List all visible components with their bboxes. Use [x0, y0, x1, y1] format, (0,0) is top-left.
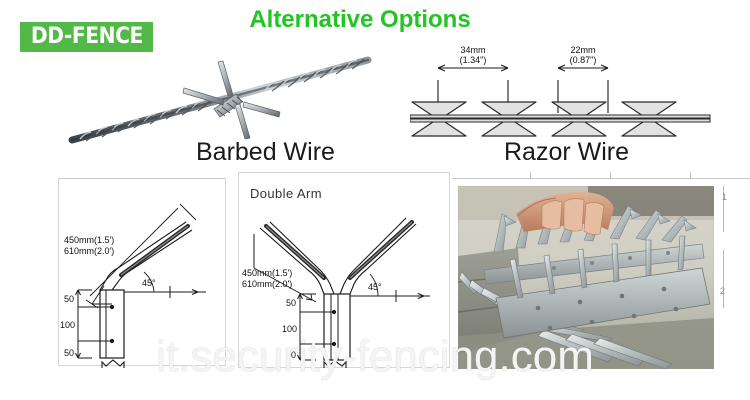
edge-rule [723, 250, 724, 308]
razor-dim-34mm-metric: 34mm [460, 45, 485, 55]
single-arm-length-alt: 610mm(2.0') [64, 246, 114, 256]
double-arm-drawing: 450mm(1.5') 610mm(2.0') 45° 50 100 50 [238, 172, 450, 373]
razor-dim-22mm-imperial: (0.87") [570, 55, 597, 65]
double-arm-dim-top: 50 [286, 298, 296, 308]
barbed-wire-barb [183, 61, 280, 139]
razor-wire-illustration: 34mm (1.34") 22mm (0.87") [410, 38, 740, 143]
rule-tick [690, 172, 691, 178]
barbed-wire-caption: Barbed Wire [196, 138, 335, 167]
page-title: Alternative Options [240, 6, 480, 34]
razor-dim-22mm-metric: 22mm [570, 45, 595, 55]
single-arm-length-metric: 450mm(1.5') [64, 235, 114, 245]
double-arm-length-alt: 610mm(2.0') [242, 279, 292, 289]
photo-top-rule [452, 178, 750, 179]
wall-spikes-photo [458, 186, 714, 369]
double-arm-dim-bottom: 50 [286, 350, 296, 360]
razor-dim-34mm-imperial: (1.34") [460, 55, 487, 65]
edge-mark-2: 2 [720, 286, 725, 296]
single-arm-angle: 45° [142, 278, 156, 288]
razor-wire-core [410, 115, 710, 122]
edge-mark-1: 1 [722, 192, 727, 202]
slide-canvas: DD-FENCE Alternative Options [0, 0, 750, 400]
rule-tick [610, 172, 611, 178]
single-arm-drawing: 450mm(1.5') 610mm(2.0') 45° 50 100 50 [58, 178, 226, 373]
brand-logo-text: DD-FENCE [31, 26, 143, 48]
rule-tick [530, 172, 531, 178]
single-arm-dim-bottom: 50 [64, 348, 74, 358]
double-arm-dim-mid: 100 [282, 324, 297, 334]
double-arm-length-metric: 450mm(1.5') [242, 268, 292, 278]
double-arm-angle: 45° [368, 282, 382, 292]
barbed-wire-illustration [50, 46, 380, 146]
razor-wire-caption: Razor Wire [504, 138, 629, 167]
single-arm-dim-top: 50 [64, 294, 74, 304]
single-arm-dim-mid: 100 [60, 320, 75, 330]
